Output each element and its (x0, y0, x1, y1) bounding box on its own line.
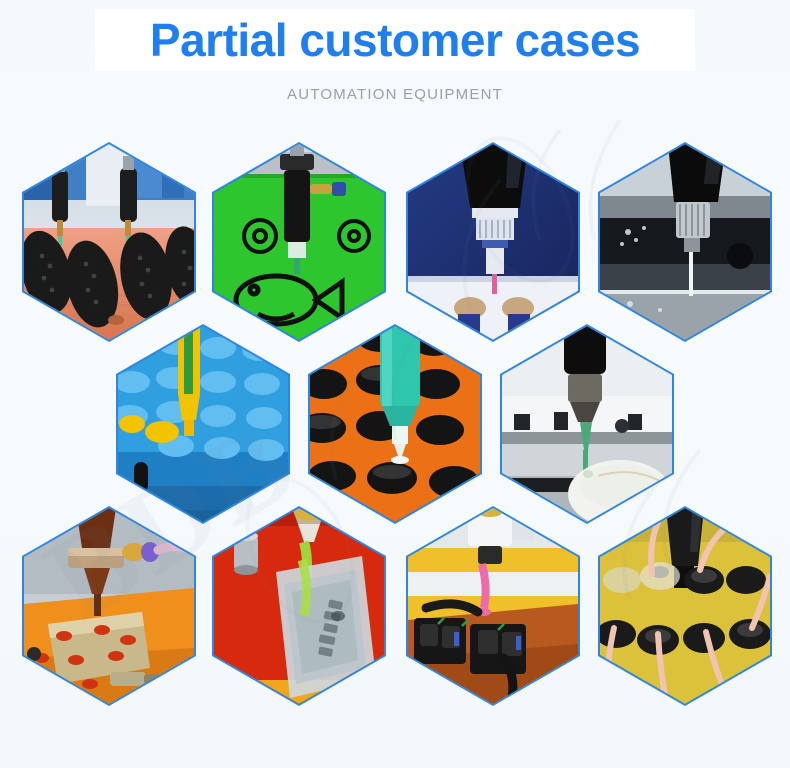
case-hexagon-5[interactable] (116, 324, 290, 524)
case-artwork-4 (600, 144, 770, 339)
case-hexagon-4[interactable] (598, 142, 772, 342)
page-title-banner: Partial customer cases (95, 9, 695, 71)
case-artwork-2 (214, 144, 384, 339)
case-image-7 (502, 326, 672, 521)
case-hexagon-1[interactable] (22, 142, 196, 342)
case-hexagon-2[interactable] (212, 142, 386, 342)
case-hexagon-10[interactable] (406, 506, 580, 706)
case-image-1 (24, 144, 194, 339)
case-image-6 (310, 326, 480, 521)
case-image-4 (600, 144, 770, 339)
page-title: Partial customer cases (150, 17, 640, 63)
case-hexagon-7[interactable] (500, 324, 674, 524)
case-image-8 (24, 508, 194, 703)
case-artwork-8 (24, 508, 194, 703)
case-hexagon-3[interactable] (406, 142, 580, 342)
case-artwork-5 (118, 326, 288, 521)
page-root: Partial customer cases AUTOMATION EQUIPM… (0, 0, 790, 768)
case-hexagon-8[interactable] (22, 506, 196, 706)
case-artwork-9 (214, 508, 384, 703)
case-gallery-grid (0, 128, 790, 728)
case-hexagon-6[interactable] (308, 324, 482, 524)
case-image-10 (408, 508, 578, 703)
page-header: Partial customer cases AUTOMATION EQUIPM… (0, 0, 790, 128)
case-artwork-7 (502, 326, 672, 521)
case-artwork-6 (310, 326, 480, 521)
case-artwork-3 (408, 144, 578, 339)
case-image-11 (600, 508, 770, 703)
case-hexagon-9[interactable] (212, 506, 386, 706)
page-subtitle: AUTOMATION EQUIPMENT (0, 86, 790, 103)
case-image-2 (214, 144, 384, 339)
case-image-3 (408, 144, 578, 339)
case-image-5 (118, 326, 288, 521)
case-artwork-10 (408, 508, 578, 703)
case-artwork-11 (600, 508, 770, 703)
case-hexagon-11[interactable] (598, 506, 772, 706)
case-artwork-1 (24, 144, 194, 339)
case-image-9 (214, 508, 384, 703)
